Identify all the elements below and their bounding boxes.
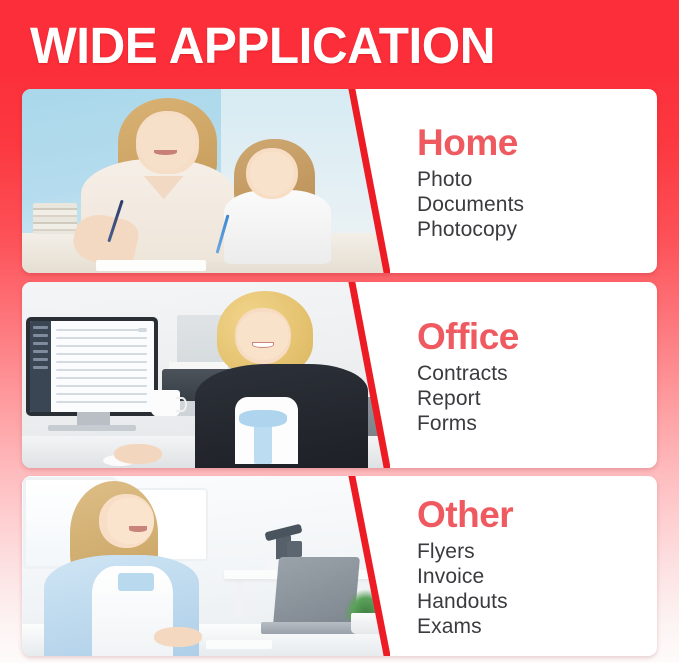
category-title-office: Office [417, 315, 657, 359]
mother-face [138, 115, 195, 170]
list-item: Photocopy [417, 217, 657, 242]
list-item: Exams [417, 614, 657, 639]
list-item: Handouts [417, 589, 657, 614]
category-title-other: Other [417, 493, 657, 537]
lab-woman-face [107, 498, 155, 545]
list-item: Forms [417, 411, 657, 436]
microscope-eyepiece [287, 541, 302, 557]
card-photo-other [22, 476, 390, 656]
computer-monitor [26, 317, 158, 416]
wide-application-poster: WIDE APPLICATION [0, 0, 679, 663]
lab-woman-collar [118, 573, 155, 591]
category-list-other: Flyers Invoice Handouts Exams [417, 539, 657, 639]
list-item: Photo [417, 167, 657, 192]
books-stack [33, 203, 77, 234]
list-item: Flyers [417, 539, 657, 564]
category-list-office: Contracts Report Forms [417, 361, 657, 436]
application-card-office: Office Contracts Report Forms [22, 282, 657, 468]
category-title-home: Home [417, 121, 657, 165]
card-photo-office [22, 282, 390, 468]
card-text-home: Home Photo Documents Photocopy [395, 89, 657, 273]
application-card-other: Other Flyers Invoice Handouts Exams [22, 476, 657, 656]
list-item: Report [417, 386, 657, 411]
list-item: Invoice [417, 564, 657, 589]
application-card-home: Home Photo Documents Photocopy [22, 89, 657, 273]
office-woman-face [237, 312, 289, 360]
lab-woman-smile [129, 526, 147, 531]
monitor-base [48, 425, 136, 431]
bow-tail [254, 423, 272, 464]
girl-body [224, 190, 331, 264]
paper-sheet [96, 260, 206, 271]
scene-home-illustration [22, 89, 390, 273]
paper-documents [206, 640, 272, 649]
list-item: Contracts [417, 361, 657, 386]
lab-woman-hands [154, 627, 202, 647]
scene-other-illustration [22, 476, 390, 656]
page-title: WIDE APPLICATION [30, 15, 612, 77]
blue-bow [239, 410, 287, 427]
girl-face [250, 152, 294, 196]
office-woman-smile [252, 342, 274, 349]
back-desk-leg [235, 579, 242, 619]
category-list-home: Photo Documents Photocopy [417, 167, 657, 242]
potted-plant-pot [351, 613, 384, 635]
office-woman-hand [114, 444, 162, 464]
scene-office-illustration [22, 282, 390, 468]
card-text-other: Other Flyers Invoice Handouts Exams [395, 476, 657, 656]
screen-text-lines [56, 329, 147, 407]
card-photo-home [22, 89, 390, 273]
list-item: Documents [417, 192, 657, 217]
screen-sidebar [30, 321, 51, 412]
monitor-screen [30, 321, 154, 412]
card-text-office: Office Contracts Report Forms [395, 282, 657, 468]
coffee-mug [151, 390, 180, 416]
